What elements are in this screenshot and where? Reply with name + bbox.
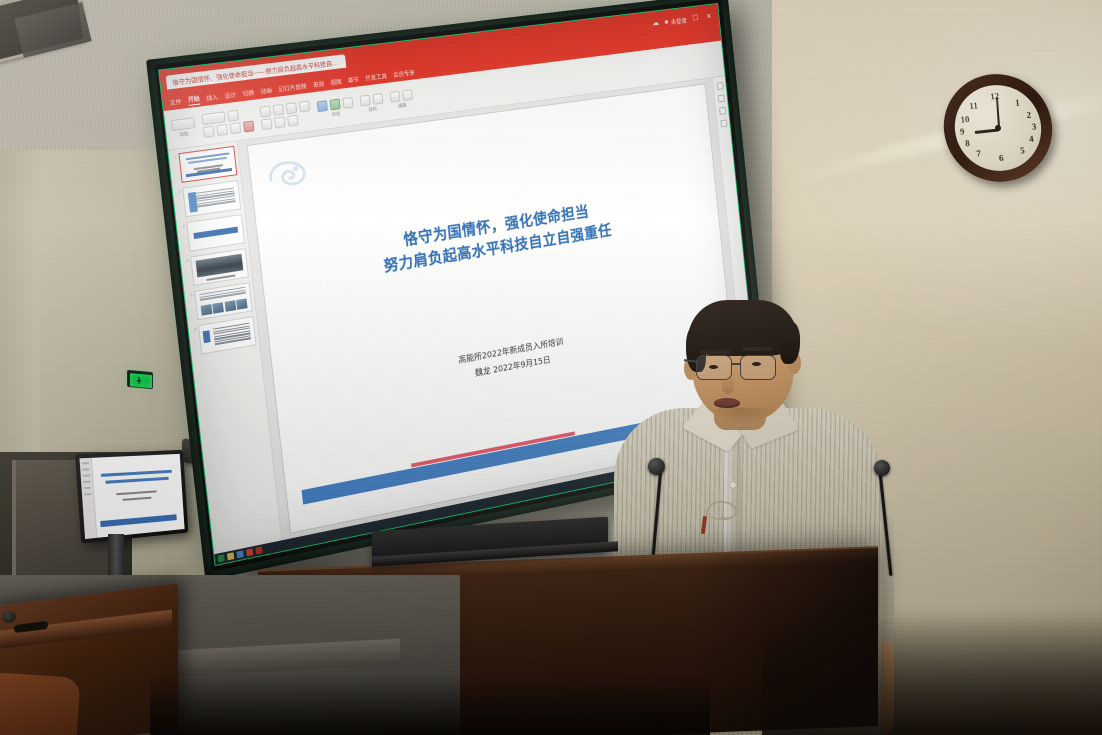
ribbon-tab-6[interactable]: 幻灯片放映 <box>278 81 307 93</box>
exit-sign <box>127 370 153 389</box>
thumbnail-number-6: 6 <box>191 326 196 333</box>
ihep-logo <box>264 154 311 195</box>
find-button[interactable] <box>389 91 400 103</box>
ribbon-group-shapes[interactable]: 形状 <box>317 97 355 120</box>
font-color-button[interactable] <box>243 120 255 132</box>
monitor-title-line-2 <box>106 477 169 484</box>
ribbon-group-paragraph[interactable] <box>259 100 311 130</box>
thumbnail-number-3: 3 <box>179 222 185 229</box>
replace-button[interactable] <box>402 89 413 101</box>
thumbnail-preview-1[interactable] <box>178 146 237 183</box>
explorer-icon[interactable] <box>227 552 234 560</box>
close-icon[interactable]: ✕ <box>704 11 715 23</box>
ribbon-group-paste[interactable]: 粘贴 <box>171 117 196 139</box>
monitor-title-line-1 <box>101 470 172 477</box>
paste-button[interactable] <box>171 117 195 131</box>
account-button[interactable]: ☻ 未登录 <box>663 15 687 27</box>
foreground-shadow-bottom <box>150 673 710 735</box>
user-icon: ☻ <box>663 18 669 25</box>
thumbnail-preview-2[interactable] <box>182 180 241 217</box>
slide-thumbnail-2[interactable]: 2 <box>176 180 242 218</box>
ribbon-group-editing[interactable]: 编辑 <box>389 89 413 110</box>
slide-thumbnail-5[interactable]: 5 <box>187 282 252 321</box>
thumb-side-badge <box>203 330 211 343</box>
thumb-photo-grid <box>201 298 248 315</box>
thumbnail-preview-4[interactable] <box>190 248 249 286</box>
align-left-button[interactable] <box>259 105 271 117</box>
shape-panel-icon[interactable] <box>719 107 726 115</box>
shape-gallery-button[interactable] <box>317 100 328 112</box>
ribbon-tab-2[interactable]: 插入 <box>206 92 219 102</box>
thumb-banner <box>193 227 238 239</box>
foreground-shadow-right <box>762 615 1102 735</box>
ribbon-tab-11[interactable]: 会员专享 <box>393 68 415 79</box>
wall-clock: 12 1 2 3 4 5 6 7 8 9 10 11 <box>938 71 1057 186</box>
align-center-button[interactable] <box>273 103 284 115</box>
underline-button[interactable] <box>230 122 242 134</box>
slide-thumbnail-6[interactable]: 6 <box>191 316 256 356</box>
ribbon-group-arrange[interactable]: 排列 <box>360 93 385 114</box>
slide-title: 恪守为国情怀，强化使命担当 努力肩负起高水平科技自立自强重任 <box>259 181 719 298</box>
picture-panel-icon[interactable] <box>720 119 727 127</box>
presenter-chin-shadow <box>706 408 776 424</box>
account-label: 未登录 <box>670 15 687 26</box>
thumbnail-number-5: 5 <box>187 291 193 298</box>
shape-fill-button[interactable] <box>330 99 341 111</box>
indent-button[interactable] <box>274 116 285 128</box>
presenter-eye-left <box>709 365 718 369</box>
start-icon[interactable] <box>217 554 224 562</box>
monitor-accent-bar <box>100 514 177 527</box>
thumb-bullet-lines <box>213 323 251 345</box>
slide-thumbnail-3[interactable]: 3 <box>179 214 245 253</box>
thumbnail-preview-6[interactable] <box>198 316 257 355</box>
ribbon-tab-1[interactable]: 开始 <box>188 94 201 106</box>
send-backward-button[interactable] <box>372 93 383 105</box>
exit-sign-glow <box>130 373 152 388</box>
thumb-caption-line <box>206 274 235 280</box>
thumb-text-lines-5 <box>199 287 246 301</box>
ribbon-tab-5[interactable]: 动画 <box>260 86 272 96</box>
monitor-screen[interactable] <box>79 454 184 539</box>
browser-icon[interactable] <box>236 550 243 558</box>
shirt-pocket-logo <box>704 497 740 523</box>
wps-icon[interactable] <box>246 548 253 556</box>
ribbon-tab-7[interactable]: 审阅 <box>313 79 325 89</box>
columns-button[interactable] <box>287 114 298 126</box>
thumbnail-preview-3[interactable] <box>186 214 245 252</box>
monitor-sub-line-2 <box>123 497 152 501</box>
thumbnail-number-4: 4 <box>183 257 189 264</box>
bring-forward-button[interactable] <box>360 95 371 107</box>
ribbon-tab-3[interactable]: 设计 <box>224 90 236 100</box>
font-family-select[interactable] <box>201 111 225 125</box>
ribbon-tab-0[interactable]: 文件 <box>169 97 182 107</box>
design-ideas-icon[interactable] <box>717 94 724 102</box>
presenter-eyebrow-left <box>700 350 730 354</box>
presenter-nose <box>722 376 734 394</box>
monitor-sub-line-1 <box>116 490 156 495</box>
thumbnail-preview-5[interactable] <box>194 282 253 320</box>
thumb-photo <box>196 254 244 278</box>
ribbon-tab-8[interactable]: 视图 <box>330 77 342 87</box>
pdf-icon[interactable] <box>255 546 262 554</box>
line-spacing-button[interactable] <box>261 118 273 130</box>
foreground-chair <box>0 672 81 735</box>
glasses-lens-right <box>740 355 776 380</box>
glasses-bridge <box>732 363 741 365</box>
slide-thumbnail-1[interactable]: 1 <box>172 146 238 184</box>
desk-knob <box>2 611 16 623</box>
comment-icon[interactable] <box>716 82 723 90</box>
bold-button[interactable] <box>203 125 215 137</box>
presenter-eye-right <box>752 362 761 366</box>
thumb-text-lines <box>196 187 236 207</box>
presenter-eyebrow-right <box>742 347 772 351</box>
thumbnail-number-2: 2 <box>176 188 182 195</box>
shape-outline-button[interactable] <box>342 97 353 109</box>
italic-button[interactable] <box>216 123 228 135</box>
ribbon-group-font[interactable] <box>201 107 254 137</box>
ribbon-tab-10[interactable]: 开发工具 <box>365 71 388 82</box>
gooseneck-mic-left-head <box>648 458 665 475</box>
ribbon-group-label-4: 排列 <box>361 105 384 114</box>
bullet-list-button[interactable] <box>299 100 310 112</box>
photo-scene: 12 1 2 3 4 5 6 7 8 9 10 11 恪守为 <box>0 0 1102 735</box>
font-size-select[interactable] <box>227 109 239 121</box>
ribbon-group-label-0: 粘贴 <box>172 130 196 139</box>
thumbnail-number-1: 1 <box>172 154 178 161</box>
presenter-hair-side-right <box>780 322 800 364</box>
ribbon-tab-9[interactable]: 章节 <box>347 75 359 85</box>
slide-thumbnail-4[interactable]: 4 <box>183 248 249 287</box>
confidence-monitor[interactable] <box>75 450 188 544</box>
shirt-button-1 <box>730 482 736 488</box>
cloud-icon[interactable]: ☁ <box>650 17 661 29</box>
align-right-button[interactable] <box>286 102 297 114</box>
gooseneck-mic-right-head <box>874 460 890 476</box>
running-man-icon <box>137 376 141 384</box>
ribbon-group-label-5: 编辑 <box>391 102 414 111</box>
presenter-mouth <box>714 398 740 408</box>
restore-icon[interactable]: ☐ <box>690 12 701 24</box>
ribbon-tab-4[interactable]: 切换 <box>242 88 254 98</box>
